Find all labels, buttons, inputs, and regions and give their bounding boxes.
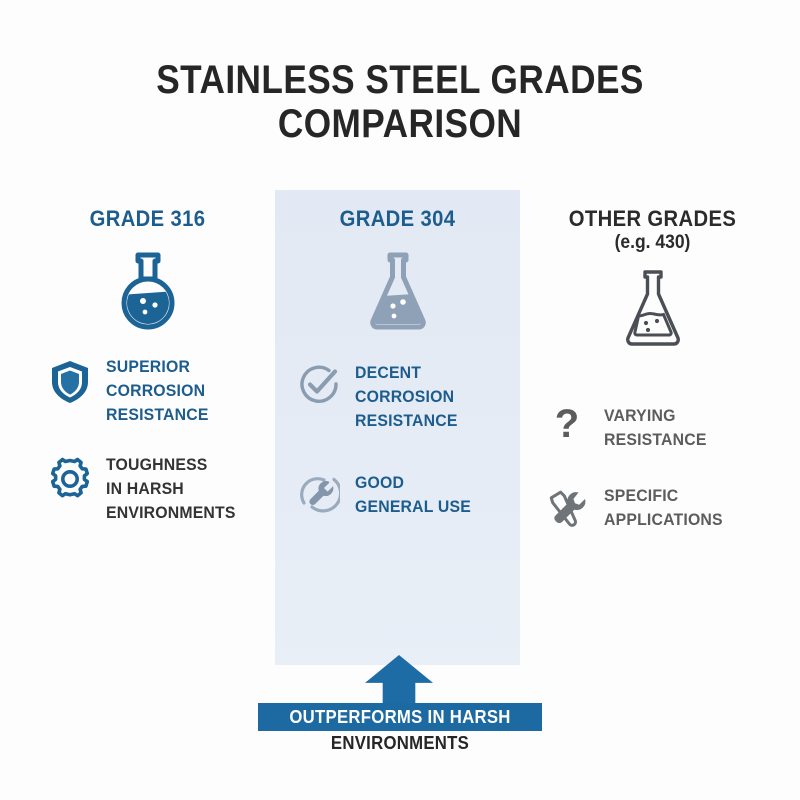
shield-icon	[48, 355, 92, 405]
feature-item: SPECIFIC APPLICATIONS	[544, 484, 785, 532]
column-heading-other-grades: OTHER GRADES	[531, 206, 775, 231]
feature-list-grade-304: DECENT CORROSION RESISTANCE GOOD GENERAL…	[297, 361, 520, 519]
feature-line: ENVIRONMENTS	[106, 501, 236, 525]
column-grade-316: GRADE 316	[20, 206, 275, 525]
conical-flask-outline-icon	[520, 266, 785, 350]
wrench-icon	[297, 471, 341, 515]
callout-banner: OUTPERFORMS IN HARSH	[258, 703, 542, 731]
feature-label: TOUGHNESS IN HARSH ENVIRONMENTS	[106, 453, 236, 525]
feature-list-grade-316: SUPERIOR CORROSION RESISTANCE TOUGHNESS …	[48, 355, 275, 525]
feature-line: TOUGHNESS	[106, 453, 236, 477]
column-heading-grade-316: GRADE 316	[30, 206, 265, 231]
feature-line: CORROSION	[355, 385, 458, 409]
page-title: STAINLESS STEEL GRADES COMPARISON	[0, 58, 800, 146]
feature-line: VARYING	[604, 404, 707, 428]
gear-icon	[48, 453, 92, 501]
feature-line: IN HARSH	[106, 477, 236, 501]
feature-item: SUPERIOR CORROSION RESISTANCE	[48, 355, 275, 427]
feature-line: RESISTANCE	[106, 403, 209, 427]
feature-line: DECENT	[355, 361, 458, 385]
question-mark-icon: ?	[544, 404, 590, 444]
feature-line: GOOD	[355, 471, 471, 495]
infographic-canvas: STAINLESS STEEL GRADES COMPARISON GRADE …	[0, 0, 800, 800]
feature-label: GOOD GENERAL USE	[355, 471, 471, 519]
feature-list-other-grades: ? VARYING RESISTANCE SPECIF	[544, 404, 785, 532]
feature-line: APPLICATIONS	[604, 508, 723, 532]
feature-label: SUPERIOR CORROSION RESISTANCE	[106, 355, 209, 427]
feature-label: SPECIFIC APPLICATIONS	[604, 484, 723, 532]
title-line-1: STAINLESS STEEL GRADES	[48, 58, 752, 102]
callout-banner-subtext: ENVIRONMENTS	[268, 733, 532, 754]
tools-icon	[544, 484, 590, 530]
column-subheading-other-grades: (e.g. 430)	[531, 231, 775, 254]
conical-flask-icon	[275, 249, 520, 333]
feature-line: RESISTANCE	[604, 428, 707, 452]
column-heading-grade-304: GRADE 304	[285, 206, 510, 231]
round-bottom-flask-icon	[20, 249, 275, 333]
question-mark-glyph: ?	[555, 404, 579, 444]
feature-line: GENERAL USE	[355, 495, 471, 519]
feature-item: TOUGHNESS IN HARSH ENVIRONMENTS	[48, 453, 275, 525]
feature-item: DECENT CORROSION RESISTANCE	[297, 361, 520, 433]
check-circle-icon	[297, 361, 341, 405]
column-other-grades: OTHER GRADES (e.g. 430) ? VARYING RESIST…	[520, 206, 785, 532]
feature-label: DECENT CORROSION RESISTANCE	[355, 361, 458, 433]
feature-line: RESISTANCE	[355, 409, 458, 433]
column-grade-304: GRADE 304	[275, 206, 520, 519]
feature-item: GOOD GENERAL USE	[297, 471, 520, 519]
feature-line: SUPERIOR	[106, 355, 209, 379]
feature-line: CORROSION	[106, 379, 209, 403]
title-line-2: COMPARISON	[48, 102, 752, 146]
feature-line: SPECIFIC	[604, 484, 723, 508]
feature-item: ? VARYING RESISTANCE	[544, 404, 785, 452]
callout-banner-text: OUTPERFORMS IN HARSH	[289, 707, 510, 728]
feature-label: VARYING RESISTANCE	[604, 404, 707, 452]
